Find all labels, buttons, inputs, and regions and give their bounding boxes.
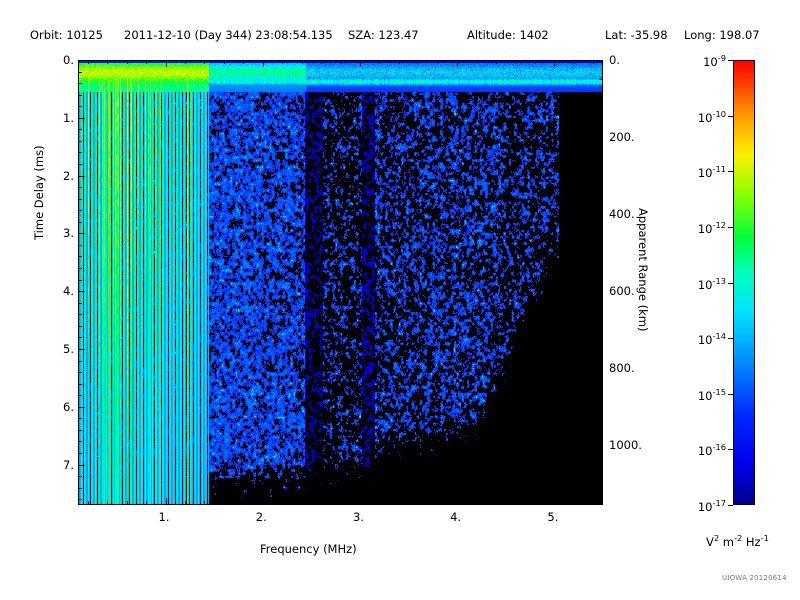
colorbar-tick-label: 10-10 (680, 109, 726, 125)
x-axis-minor-tick (399, 501, 400, 505)
y-axis-tick-label-left: 6. (54, 400, 74, 414)
colorbar-unit-v: V (706, 535, 714, 549)
y-axis-minor-tick-right (599, 253, 603, 254)
colorbar-tick (728, 227, 733, 228)
x-axis-minor-tick-top (418, 60, 419, 64)
y-axis-minor-tick-left (78, 164, 82, 165)
y-axis-tick-label-right: 0. (609, 53, 620, 67)
colorbar-tick (728, 338, 733, 339)
x-axis-minor-tick-top (302, 60, 303, 64)
colorbar-unit-exp3: -1 (761, 533, 769, 543)
y-axis-minor-tick-right (599, 387, 603, 388)
y-axis-minor-tick-right (599, 310, 603, 311)
colorbar-tick-label: 10-9 (680, 53, 726, 69)
x-axis-tick-label: 3. (353, 510, 364, 524)
y-axis-minor-tick-left (78, 372, 82, 373)
x-axis-minor-tick-top (593, 60, 594, 64)
x-axis-tick-label: 1. (159, 510, 170, 524)
y-axis-minor-tick-right (599, 426, 603, 427)
y-axis-tick-left (78, 60, 85, 61)
y-axis-minor-tick-left (78, 395, 82, 396)
y-axis-minor-tick-left (78, 280, 82, 281)
colorbar-tick-base: 10 (698, 389, 713, 403)
x-axis-minor-tick-top (204, 60, 205, 64)
x-axis-minor-tick (496, 501, 497, 505)
y-axis-minor-tick-left (78, 476, 82, 477)
ionogram-figure: Orbit: 10125 2011-12-10 (Day 344) 23:08:… (0, 0, 800, 600)
datetime-label: 2011-12-10 (Day 344) 23:08:54.135 (124, 28, 333, 42)
colorbar-tick-base: 10 (703, 55, 718, 69)
colorbar-tick-base: 10 (698, 277, 713, 291)
colorbar-tick-label: 10-12 (680, 220, 726, 236)
colorbar-tick-exponent: -17 (712, 498, 726, 508)
x-axis-minor-tick-top (146, 60, 147, 64)
colorbar-tick (728, 283, 733, 284)
colorbar-tick-exponent: -11 (712, 164, 726, 174)
spectrogram-canvas (78, 60, 603, 505)
y-axis-tick-left (78, 233, 85, 234)
orbit-label: Orbit: 10125 (30, 28, 103, 42)
x-axis-tick (360, 498, 361, 505)
colorbar-unit-m: m (719, 535, 734, 549)
y-axis-tick-label-left: 2. (54, 169, 74, 183)
y-axis-tick-left (78, 349, 85, 350)
x-axis-tick-top (263, 60, 264, 67)
colorbar-canvas (733, 60, 755, 505)
colorbar-tick-label: 10-11 (680, 164, 726, 180)
y-axis-minor-tick-left (78, 72, 82, 73)
x-axis-minor-tick-top (224, 60, 225, 64)
y-axis-tick-label-left: 0. (54, 53, 74, 67)
credit-label: UIOWA 20120614 (722, 574, 787, 582)
x-axis-minor-tick-top (516, 60, 517, 64)
y-axis-minor-tick-left (78, 314, 82, 315)
x-axis-minor-tick-top (438, 60, 439, 64)
y-axis-minor-tick-left (78, 441, 82, 442)
y-axis-tick-label-right: 400. (609, 207, 635, 221)
y-axis-tick-label-right: 200. (609, 130, 635, 144)
y-axis-tick-left (78, 176, 85, 177)
y-axis-minor-tick-left (78, 129, 82, 130)
y-axis-tick-label-right: 800. (609, 361, 635, 375)
colorbar-tick-base: 10 (698, 222, 713, 236)
x-axis-minor-tick-top (243, 60, 244, 64)
x-axis-minor-tick (438, 501, 439, 505)
latitude-label: Lat: -35.98 (605, 28, 668, 42)
y-axis-tick-right (596, 137, 603, 138)
y-axis-tick-right (596, 445, 603, 446)
y-axis-tick-label-right: 1000. (609, 438, 642, 452)
y-axis-minor-tick-right (599, 176, 603, 177)
y-axis-tick-right (596, 368, 603, 369)
header-info-line: Orbit: 10125 2011-12-10 (Day 344) 23:08:… (0, 28, 800, 44)
colorbar-tick (728, 394, 733, 395)
x-axis-minor-tick (418, 501, 419, 505)
x-axis-minor-tick (243, 501, 244, 505)
x-axis-minor-tick (574, 501, 575, 505)
y-axis-minor-tick-right (599, 272, 603, 273)
y-axis-minor-tick-left (78, 303, 82, 304)
y-axis-title-left: Time Delay (ms) (32, 145, 46, 240)
y-axis-minor-tick-left (78, 152, 82, 153)
y-axis-minor-tick-right (599, 503, 603, 504)
y-axis-minor-tick-left (78, 141, 82, 142)
colorbar-tick (728, 449, 733, 450)
colorbar-tick-label: 10-14 (680, 331, 726, 347)
y-axis-minor-tick-left (78, 268, 82, 269)
x-axis-minor-tick-top (107, 60, 108, 64)
y-axis-minor-tick-left (78, 199, 82, 200)
y-axis-minor-tick-right (599, 118, 603, 119)
colorbar-tick (728, 116, 733, 117)
x-axis-tick-top (166, 60, 167, 67)
colorbar-tick-base: 10 (698, 500, 713, 514)
y-axis-minor-tick-left (78, 418, 82, 419)
y-axis-minor-tick-right (599, 407, 603, 408)
x-axis-minor-tick (282, 501, 283, 505)
x-axis-title: Frequency (MHz) (260, 542, 357, 556)
x-axis-minor-tick-top (379, 60, 380, 64)
x-axis-minor-tick (516, 501, 517, 505)
sza-label: SZA: 123.47 (348, 28, 419, 42)
y-axis-tick-label-left: 1. (54, 111, 74, 125)
colorbar-container (733, 60, 755, 505)
y-axis-minor-tick-right (599, 233, 603, 234)
y-axis-minor-tick-right (599, 195, 603, 196)
x-axis-minor-tick (185, 501, 186, 505)
y-axis-minor-tick-right (599, 465, 603, 466)
colorbar-tick-exponent: -9 (718, 53, 726, 63)
y-axis-minor-tick-left (78, 222, 82, 223)
y-axis-tick-left (78, 465, 85, 466)
altitude-label: Altitude: 1402 (467, 28, 549, 42)
colorbar-tick-label: 10-13 (680, 276, 726, 292)
y-axis-minor-tick-left (78, 326, 82, 327)
colorbar-tick-exponent: -10 (712, 109, 726, 119)
y-axis-minor-tick-left (78, 83, 82, 84)
x-axis-minor-tick-top (321, 60, 322, 64)
y-axis-minor-tick-left (78, 361, 82, 362)
colorbar-tick-exponent: -12 (712, 220, 726, 230)
x-axis-tick (457, 498, 458, 505)
x-axis-tick-label: 2. (256, 510, 267, 524)
y-axis-minor-tick-right (599, 99, 603, 100)
y-axis-title-right: Apparent Range (km) (636, 208, 650, 331)
colorbar-tick (728, 171, 733, 172)
colorbar-tick-label: 10-17 (680, 498, 726, 514)
x-axis-minor-tick-top (88, 60, 89, 64)
y-axis-minor-tick-left (78, 488, 82, 489)
colorbar-tick-exponent: -16 (712, 442, 726, 452)
x-axis-tick-top (554, 60, 555, 67)
plot-container: Time Delay (ms) Apparent Range (km) Freq… (78, 60, 603, 505)
y-axis-minor-tick-left (78, 106, 82, 107)
x-axis-minor-tick (107, 501, 108, 505)
x-axis-minor-tick-top (574, 60, 575, 64)
x-axis-minor-tick (321, 501, 322, 505)
y-axis-tick-right (596, 214, 603, 215)
y-axis-tick-right (596, 291, 603, 292)
colorbar-tick-base: 10 (698, 110, 713, 124)
y-axis-tick-label-left: 7. (54, 458, 74, 472)
x-axis-minor-tick (341, 501, 342, 505)
x-axis-minor-tick-top (185, 60, 186, 64)
x-axis-tick-label: 5. (547, 510, 558, 524)
y-axis-tick-label-right: 600. (609, 284, 635, 298)
y-axis-minor-tick-left (78, 210, 82, 211)
y-axis-tick-label-left: 3. (54, 226, 74, 240)
y-axis-minor-tick-right (599, 484, 603, 485)
colorbar-tick-base: 10 (698, 444, 713, 458)
colorbar-tick (728, 505, 733, 506)
colorbar-tick (728, 60, 733, 61)
y-axis-minor-tick-left (78, 245, 82, 246)
y-axis-minor-tick-left (78, 256, 82, 257)
x-axis-minor-tick (146, 501, 147, 505)
x-axis-minor-tick (593, 501, 594, 505)
colorbar-tick-exponent: -15 (712, 387, 726, 397)
y-axis-tick-left (78, 118, 85, 119)
x-axis-minor-tick-top (127, 60, 128, 64)
colorbar-tick-base: 10 (698, 166, 713, 180)
colorbar-unit-hz: Hz (742, 535, 760, 549)
x-axis-minor-tick-top (535, 60, 536, 64)
colorbar-tick-exponent: -14 (712, 331, 726, 341)
x-axis-minor-tick (379, 501, 380, 505)
y-axis-minor-tick-left (78, 95, 82, 96)
x-axis-minor-tick (477, 501, 478, 505)
x-axis-tick (263, 498, 264, 505)
y-axis-minor-tick-left (78, 337, 82, 338)
y-axis-minor-tick-left (78, 453, 82, 454)
y-axis-minor-tick-left (78, 499, 82, 500)
x-axis-minor-tick-top (282, 60, 283, 64)
y-axis-tick-right (596, 60, 603, 61)
colorbar-unit-exp2: -2 (734, 533, 742, 543)
y-axis-minor-tick-right (599, 330, 603, 331)
x-axis-minor-tick (535, 501, 536, 505)
x-axis-minor-tick (88, 501, 89, 505)
x-axis-tick (166, 498, 167, 505)
x-axis-minor-tick-top (399, 60, 400, 64)
x-axis-minor-tick-top (341, 60, 342, 64)
colorbar-tick-label: 10-16 (680, 442, 726, 458)
y-axis-tick-left (78, 407, 85, 408)
x-axis-minor-tick (302, 501, 303, 505)
colorbar-tick-label: 10-15 (680, 387, 726, 403)
y-axis-minor-tick-right (599, 156, 603, 157)
y-axis-tick-label-left: 4. (54, 284, 74, 298)
y-axis-tick-label-left: 5. (54, 342, 74, 356)
x-axis-minor-tick-top (477, 60, 478, 64)
colorbar-tick-exponent: -13 (712, 276, 726, 286)
y-axis-minor-tick-right (599, 79, 603, 80)
x-axis-minor-tick (204, 501, 205, 505)
longitude-label: Long: 198.07 (684, 28, 760, 42)
y-axis-minor-tick-left (78, 384, 82, 385)
y-axis-minor-tick-right (599, 349, 603, 350)
x-axis-tick-label: 4. (450, 510, 461, 524)
x-axis-minor-tick (127, 501, 128, 505)
spectrogram-plot-area (78, 60, 603, 505)
x-axis-tick-top (457, 60, 458, 67)
y-axis-minor-tick-left (78, 430, 82, 431)
x-axis-minor-tick (224, 501, 225, 505)
y-axis-minor-tick-left (78, 187, 82, 188)
colorbar-unit-label: V2 m-2 Hz-1 (706, 533, 769, 549)
colorbar-tick-base: 10 (698, 333, 713, 347)
y-axis-tick-left (78, 291, 85, 292)
x-axis-minor-tick-top (496, 60, 497, 64)
x-axis-tick-top (360, 60, 361, 67)
x-axis-tick (554, 498, 555, 505)
